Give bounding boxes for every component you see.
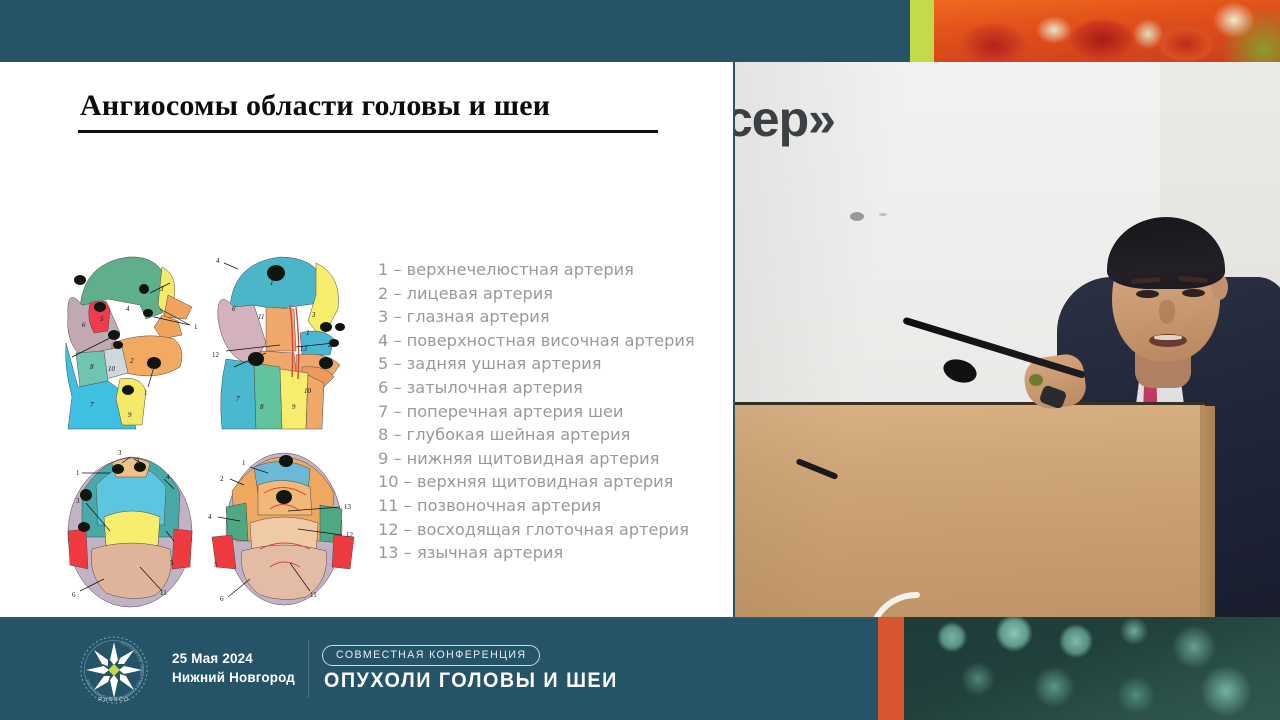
- legend-item: 10 – верхняя щитовидная артерия: [378, 470, 718, 494]
- svg-text:6: 6: [232, 305, 236, 313]
- microphone-capsule-icon: [941, 356, 980, 387]
- legend-item: 8 – глубокая шейная артерия: [378, 423, 718, 447]
- legend-item: 1 – верхнечелюстная артерия: [378, 258, 718, 282]
- footer-divider: [308, 640, 309, 698]
- svg-text:5: 5: [214, 561, 218, 569]
- svg-text:8: 8: [90, 363, 94, 371]
- podium: [735, 402, 1205, 617]
- legend-item: 13 – язычная артерия: [378, 541, 718, 565]
- figure-skull-base-inferior: 1 2 4 5 13 12 6 11: [198, 445, 373, 610]
- artery-legend-list: 1 – верхнечелюстная артерия 2 – лицевая …: [378, 258, 718, 565]
- svg-text:2: 2: [220, 475, 224, 483]
- wall-banner-text: сер»: [735, 90, 835, 148]
- svg-text:6: 6: [82, 321, 86, 329]
- svg-text:7: 7: [236, 395, 240, 403]
- svg-text:8: 8: [260, 403, 264, 411]
- legend-item: 9 – нижняя щитовидная артерия: [378, 447, 718, 471]
- slide-title: Ангиосомы области головы и шеи: [80, 89, 550, 123]
- svg-text:11: 11: [258, 313, 264, 321]
- bottom-decor-photo: [904, 617, 1280, 720]
- svg-text:1: 1: [76, 469, 80, 477]
- conference-kicker-badge: СОВМЕСТНАЯ КОНФЕРЕНЦИЯ: [322, 645, 540, 666]
- speaker-nose: [1159, 300, 1175, 324]
- svg-text:3: 3: [311, 311, 316, 319]
- svg-text:13: 13: [344, 503, 352, 511]
- angiosome-figure-grid: 4 6 5 3 2 8 10 7 9 1 1: [50, 247, 370, 615]
- slide-title-underline: [78, 130, 658, 133]
- svg-text:3: 3: [118, 449, 122, 457]
- svg-text:4: 4: [216, 257, 220, 265]
- svg-text:1: 1: [194, 323, 198, 331]
- svg-text:11: 11: [310, 591, 317, 599]
- orange-accent-stripe: [878, 617, 904, 720]
- figure-lateral-head-superficial: 4 6 5 3 2 8 10 7 9 1 1: [50, 247, 210, 432]
- legend-item: 4 – поверхностная височная артерия: [378, 329, 718, 353]
- svg-text:12: 12: [346, 531, 354, 539]
- podium-side-edge: [1201, 406, 1215, 617]
- legend-item: 5 – задняя ушная артерия: [378, 352, 718, 376]
- lime-accent-stripe: [910, 0, 934, 62]
- speaker-mouth: [1149, 334, 1187, 347]
- figure-lateral-head-deep: 1 6 11 3 1 2 13 10 7 8 9 4 12: [204, 247, 369, 432]
- legend-item: 11 – позвоночная артерия: [378, 494, 718, 518]
- svg-text:10: 10: [108, 365, 116, 373]
- svg-text:1: 1: [270, 279, 274, 287]
- svg-text:9: 9: [128, 411, 132, 419]
- svg-text:4: 4: [166, 473, 170, 481]
- russco-logo: RUSSCO РОССИЙСКОЕ ОБЩЕСТВО КЛИНИЧЕСКОЙ О…: [78, 634, 150, 706]
- broadcast-stage: Ангиосомы области головы и шеи: [0, 0, 1280, 720]
- conference-title: ОПУХОЛИ ГОЛОВЫ И ШЕИ: [324, 668, 618, 693]
- speaker-eye-left: [1136, 290, 1159, 298]
- svg-text:6: 6: [220, 595, 224, 603]
- svg-text:1: 1: [306, 329, 310, 337]
- legend-item: 2 – лицевая артерия: [378, 282, 718, 306]
- svg-text:2: 2: [130, 357, 134, 365]
- svg-text:2: 2: [136, 457, 140, 465]
- speaker-video-panel[interactable]: сер»: [735, 62, 1280, 617]
- svg-text:4: 4: [208, 513, 212, 521]
- top-decor-photo: [934, 0, 1280, 62]
- svg-text:4: 4: [126, 305, 130, 313]
- svg-text:1: 1: [242, 459, 246, 467]
- svg-text:5: 5: [170, 559, 174, 567]
- legend-item: 7 – поперечная артерия шеи: [378, 400, 718, 424]
- wall-mark: [850, 212, 864, 221]
- svg-text:12: 12: [212, 351, 220, 359]
- microphone-tip: [1029, 374, 1043, 386]
- event-date: 25 Мая 2024: [172, 649, 295, 668]
- footer-top-edge: [0, 617, 875, 619]
- presentation-slide: Ангиосомы области головы и шеи: [0, 62, 733, 617]
- svg-text:1: 1: [144, 389, 148, 397]
- event-date-location: 25 Мая 2024 Нижний Новгород: [172, 649, 295, 687]
- svg-text:13: 13: [300, 345, 308, 353]
- event-city: Нижний Новгород: [172, 668, 295, 687]
- legend-item: 6 – затылочная артерия: [378, 376, 718, 400]
- figure-skull-base-superior: 1 3 2 4 3 5 6 11: [52, 445, 212, 610]
- podium-leaf-hand-logo: [863, 587, 971, 617]
- svg-text:3: 3: [76, 497, 80, 505]
- svg-text:11: 11: [160, 589, 167, 597]
- svg-text:9: 9: [292, 403, 296, 411]
- svg-text:3: 3: [159, 285, 164, 293]
- svg-text:2: 2: [328, 341, 332, 349]
- legend-item: 12 – восходящая глоточная артерия: [378, 518, 718, 542]
- svg-text:10: 10: [304, 387, 312, 395]
- svg-text:5: 5: [100, 315, 104, 323]
- svg-text:6: 6: [72, 591, 76, 599]
- legend-item: 3 – глазная артерия: [378, 305, 718, 329]
- speaker-eye-right: [1182, 289, 1205, 297]
- svg-text:7: 7: [90, 401, 94, 409]
